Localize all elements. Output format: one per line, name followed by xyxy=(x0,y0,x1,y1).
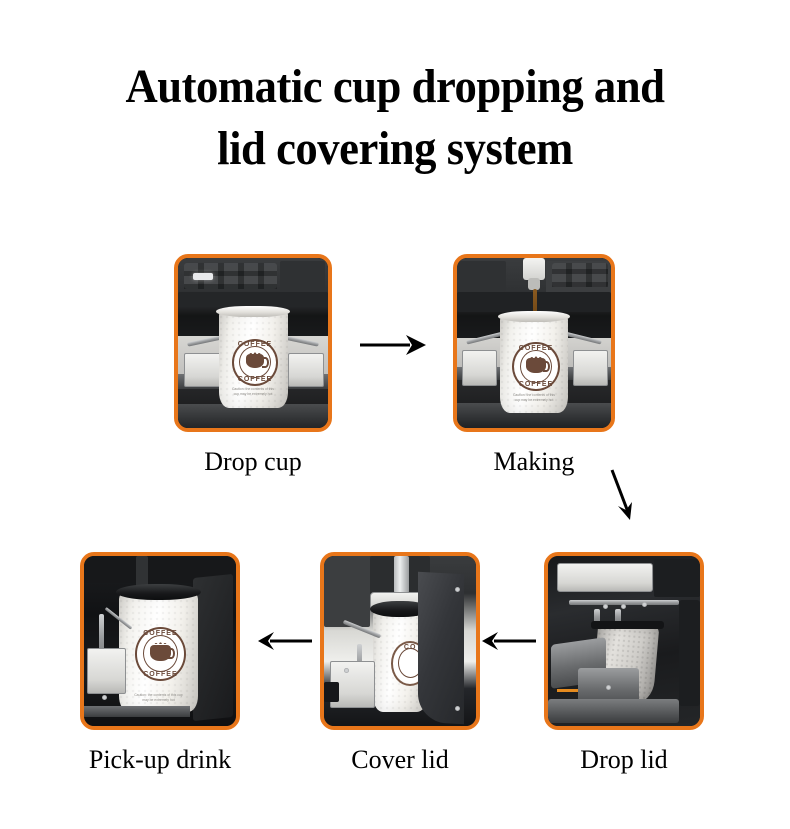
process-flow-diagram: COFFEE COFFEE Caution: the contents of t… xyxy=(0,0,790,829)
cup-body-text: Caution: the contents of this cup may be… xyxy=(133,693,184,703)
arrow-left-icon xyxy=(258,628,314,654)
coffee-cup: COFFEE COFFEE Caution: the contents of t… xyxy=(119,593,198,712)
cup-body-text: Caution: the contents of this cup may be… xyxy=(512,393,555,403)
coffee-logo-top-text: COFFEE xyxy=(514,345,557,352)
caption-pick-up-drink: Pick-up drink xyxy=(60,745,260,775)
coffee-logo-top-text: COFFEE xyxy=(137,630,184,637)
coffee-logo-bottom-text: COFFEE xyxy=(514,381,557,388)
caption-drop-cup: Drop cup xyxy=(174,447,332,477)
coffee-logo-bottom-text: COFFEE xyxy=(234,376,277,383)
lid-press-post xyxy=(394,556,409,593)
coffee-logo-top-text: COFFEE xyxy=(234,341,277,348)
arrow-right-icon xyxy=(358,330,428,360)
caption-making: Making xyxy=(453,447,615,477)
cover-lid-door xyxy=(418,572,464,724)
caption-cover-lid: Cover lid xyxy=(320,745,480,775)
coffee-logo: COFFEE COFFEE xyxy=(135,627,186,681)
coffee-logo-bottom-text: COFFEE xyxy=(137,671,184,678)
step-pick-up-drink-photo: COFFEE COFFEE Caution: the contents of t… xyxy=(80,552,240,730)
coffee-logo: COFFEE COFFEE xyxy=(232,339,279,386)
coffee-cup: COFFEE COFFEE Caution: the contents of t… xyxy=(500,314,568,413)
arrow-down-icon xyxy=(604,466,646,524)
coffee-logo: COFFEE COFFEE xyxy=(512,342,559,391)
coffee-cup: COFFEE COFFEE Caution: the contents of t… xyxy=(219,309,288,408)
step-cover-lid-photo: CO xyxy=(320,552,480,730)
dispenser-nozzle xyxy=(523,258,545,280)
step-making-photo: COFFEE COFFEE Caution: the contents of t… xyxy=(453,254,615,432)
arrow-left-icon xyxy=(482,628,538,654)
step-drop-lid-photo xyxy=(544,552,704,730)
caption-drop-lid: Drop lid xyxy=(544,745,704,775)
cup-body-text: Caution: the contents of this cup may be… xyxy=(231,387,275,397)
step-drop-cup-photo: COFFEE COFFEE Caution: the contents of t… xyxy=(174,254,332,432)
